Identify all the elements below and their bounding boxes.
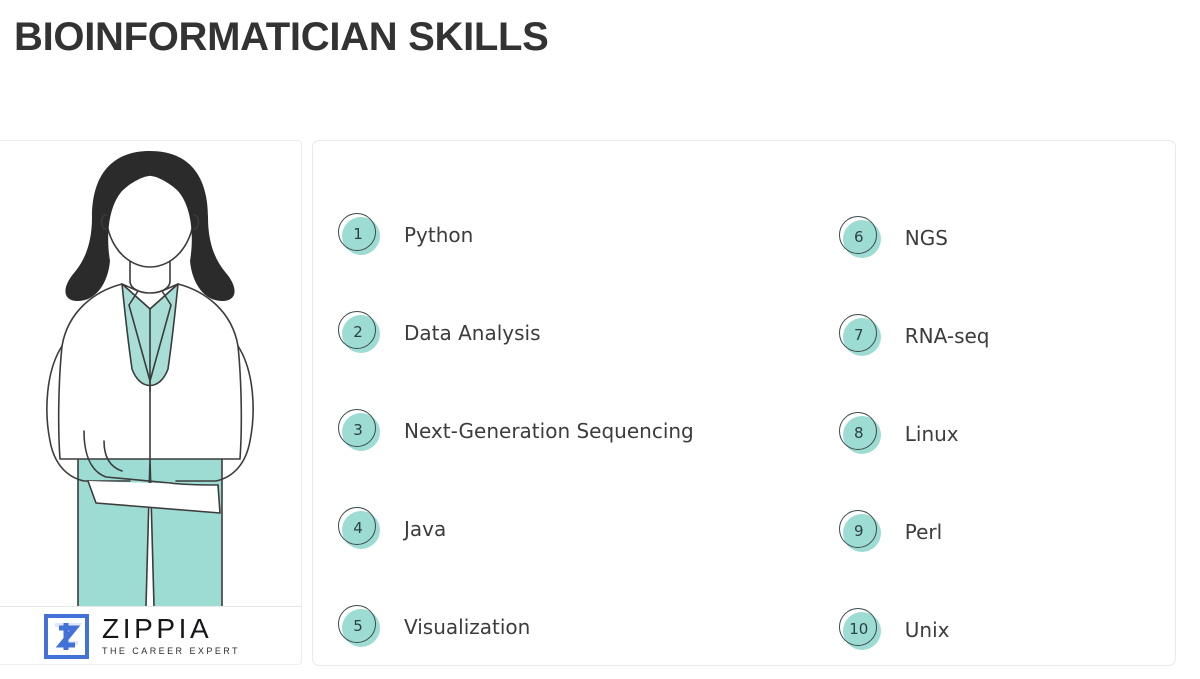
- badge-number: 2: [338, 311, 378, 353]
- badge-number: 7: [839, 314, 879, 356]
- badge-number: 8: [839, 412, 879, 454]
- skill-label: Data Analysis: [404, 321, 541, 345]
- skills-card: 1 Python 2 Data Analysis 3 Next-Gener: [312, 140, 1176, 666]
- zippia-z-mark: [44, 614, 89, 659]
- badge-number: 5: [338, 605, 378, 647]
- scientist-illustration: [0, 141, 302, 606]
- skill-number-badge: 8: [839, 412, 883, 456]
- skill-label: Next-Generation Sequencing: [404, 419, 694, 443]
- skills-column-left: 1 Python 2 Data Analysis 3 Next-Gener: [313, 141, 694, 665]
- badge-number: 6: [839, 216, 879, 258]
- zippia-tagline: THE CAREER EXPERT: [102, 644, 240, 658]
- skill-row[interactable]: 9 Perl: [839, 483, 1175, 581]
- badge-number: 4: [338, 507, 378, 549]
- skill-label: NGS: [905, 226, 948, 250]
- skill-number-badge: 10: [839, 608, 883, 652]
- skill-row[interactable]: 3 Next-Generation Sequencing: [338, 382, 694, 480]
- skill-label: Perl: [905, 520, 942, 544]
- zippia-wordmark: ZIPPIA: [102, 614, 240, 643]
- skill-row[interactable]: 5 Visualization: [338, 578, 694, 676]
- skills-columns: 1 Python 2 Data Analysis 3 Next-Gener: [313, 141, 1175, 665]
- skill-number-badge: 7: [839, 314, 883, 358]
- page-title: BIOINFORMATICIAN SKILLS: [14, 13, 549, 61]
- skill-number-badge: 3: [338, 409, 382, 453]
- badge-number: 3: [338, 409, 378, 451]
- badge-number: 10: [839, 608, 879, 650]
- skill-number-badge: 2: [338, 311, 382, 355]
- skill-label: RNA-seq: [905, 324, 990, 348]
- skill-row[interactable]: 6 NGS: [839, 189, 1175, 287]
- illustration-panel: ZIPPIA THE CAREER EXPERT: [0, 140, 302, 665]
- skill-number-badge: 4: [338, 507, 382, 551]
- skill-row[interactable]: 1 Python: [338, 186, 694, 284]
- skill-row[interactable]: 7 RNA-seq: [839, 287, 1175, 385]
- skill-label: Visualization: [404, 615, 530, 639]
- skills-column-right: 6 NGS 7 RNA-seq 8 Linux: [694, 141, 1175, 665]
- badge-number: 9: [839, 510, 879, 552]
- skill-number-badge: 9: [839, 510, 883, 554]
- skill-row[interactable]: 10 Unix: [839, 581, 1175, 679]
- skill-number-badge: 6: [839, 216, 883, 260]
- zippia-logo[interactable]: ZIPPIA THE CAREER EXPERT: [0, 607, 302, 665]
- skill-row[interactable]: 2 Data Analysis: [338, 284, 694, 382]
- scientist-illustration-svg: [0, 141, 302, 606]
- skill-label: Unix: [905, 618, 950, 642]
- skill-label: Python: [404, 223, 473, 247]
- skill-label: Linux: [905, 422, 959, 446]
- skill-label: Java: [404, 517, 446, 541]
- skill-number-badge: 5: [338, 605, 382, 649]
- badge-number: 1: [338, 213, 378, 255]
- skill-number-badge: 1: [338, 213, 382, 257]
- zippia-logo-text: ZIPPIA THE CAREER EXPERT: [102, 614, 240, 658]
- skill-row[interactable]: 8 Linux: [839, 385, 1175, 483]
- skill-row[interactable]: 4 Java: [338, 480, 694, 578]
